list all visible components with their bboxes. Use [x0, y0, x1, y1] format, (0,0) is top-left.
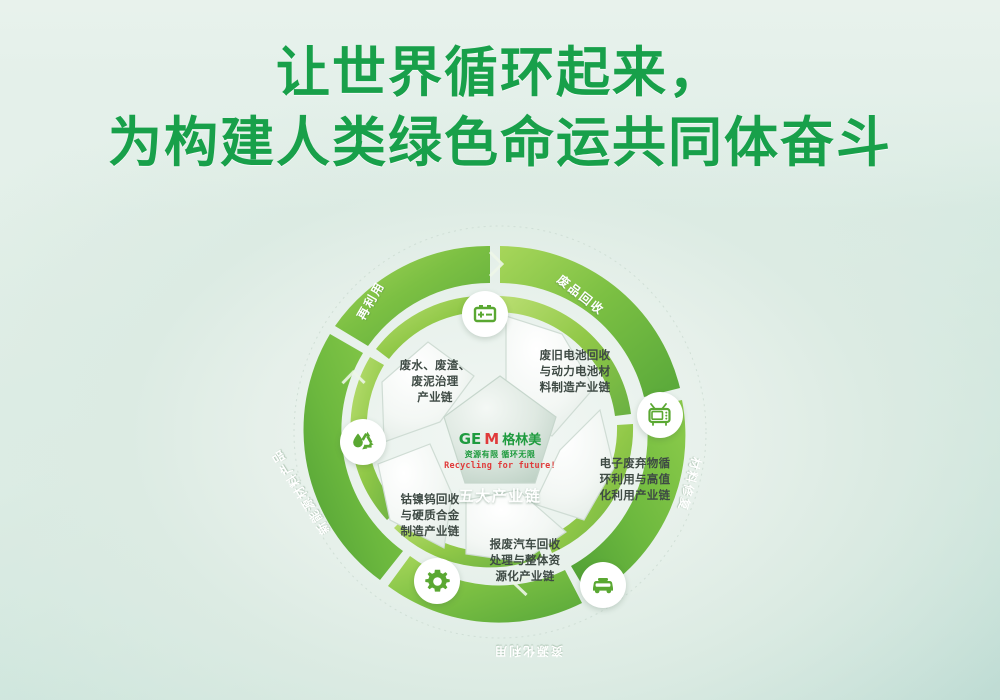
car-icon-bubble[interactable]: [580, 562, 626, 608]
water-recycle-icon-bubble[interactable]: [340, 419, 386, 465]
title-line-1: 让世界循环起来，: [0, 40, 1000, 106]
segment-label-wastewater-chain: 废水、废渣、 废泥治理 产业链: [383, 358, 487, 406]
car-icon: [590, 572, 616, 598]
ring-label-resource-recycling: 资源化利用: [493, 643, 563, 660]
battery-icon-bubble[interactable]: [462, 291, 508, 337]
gem-logo: GEM 格林美: [459, 432, 542, 447]
battery-icon: [472, 301, 498, 327]
hub-branding: GEM 格林美 资源有限 循环无限 Recycling for future! …: [440, 420, 560, 528]
logo-latin-accent: M: [484, 432, 499, 447]
logo-tagline-cn: 资源有限 循环无限: [465, 449, 536, 460]
logo-latin-text: GE: [459, 432, 482, 447]
tv-icon-bubble[interactable]: [637, 392, 683, 438]
poster-canvas: 让世界循环起来， 为构建人类绿色命运共同体奋斗: [0, 0, 1000, 700]
logo-chinese-name: 格林美: [502, 432, 541, 447]
segment-label-ewaste-chain: 电子废弃物循 环利用与高值 化利用产业链: [583, 456, 687, 504]
segment-label-battery-chain: 废旧电池回收 与动力电池材 料制造产业链: [523, 348, 627, 396]
water-recycle-icon: [349, 428, 377, 456]
gear-icon-bubble[interactable]: [414, 558, 460, 604]
title-line-2: 为构建人类绿色命运共同体奋斗: [0, 110, 1000, 176]
hub-center-label: 五大产业链: [459, 485, 542, 506]
page-title: 让世界循环起来， 为构建人类绿色命运共同体奋斗: [0, 40, 1000, 176]
gear-icon: [424, 568, 451, 595]
logo-tagline-en: Recycling for future!: [444, 461, 556, 471]
tv-icon: [647, 402, 673, 428]
segment-label-vehicle-chain: 报废汽车回收 处理与整体资 源化产业链: [473, 537, 577, 585]
